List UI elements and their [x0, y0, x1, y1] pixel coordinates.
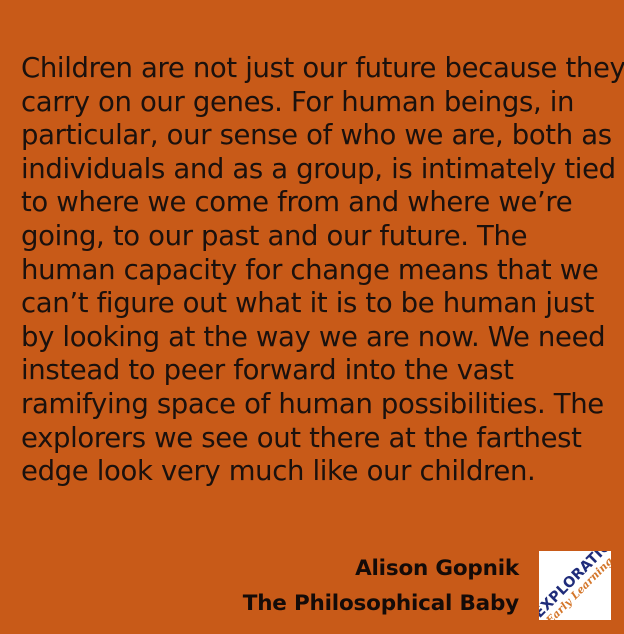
quote-text-block: Children are not just our future because…	[21, 52, 605, 489]
quote-source-title: The Philosophical Baby	[0, 586, 519, 621]
quote-line: by looking at the way we are now. We nee…	[21, 321, 605, 355]
logo-wordmark: EXPLORATIONS	[539, 551, 610, 620]
quote-line: explorers we see out there at the farthe…	[21, 422, 605, 456]
logo-inner: EXPLORATIONS Early Learning	[539, 551, 611, 620]
quote-line: individuals and as a group, is intimatel…	[21, 153, 605, 187]
quote-line: instead to peer forward into the vast	[21, 354, 605, 388]
quote-author: Alison Gopnik	[0, 551, 519, 586]
quote-line: edge look very much like our children.	[21, 455, 605, 489]
quote-line: human capacity for change means that we	[21, 254, 605, 288]
quote-line: carry on our genes. For human beings, in	[21, 86, 605, 120]
attribution-block: Alison Gopnik The Philosophical Baby	[0, 551, 519, 621]
quote-line: going, to our past and our future. The	[21, 220, 605, 254]
quote-slide: Children are not just our future because…	[0, 0, 624, 634]
quote-line: can’t figure out what it is to be human …	[21, 287, 605, 321]
quote-line: ramifying space of human possibilities. …	[21, 388, 605, 422]
quote-line: Children are not just our future because…	[21, 52, 605, 86]
quote-line: to where we come from and where we’re	[21, 186, 605, 220]
quote-line: particular, our sense of who we are, bot…	[21, 119, 605, 153]
explorations-early-learning-logo: EXPLORATIONS Early Learning	[539, 551, 611, 620]
